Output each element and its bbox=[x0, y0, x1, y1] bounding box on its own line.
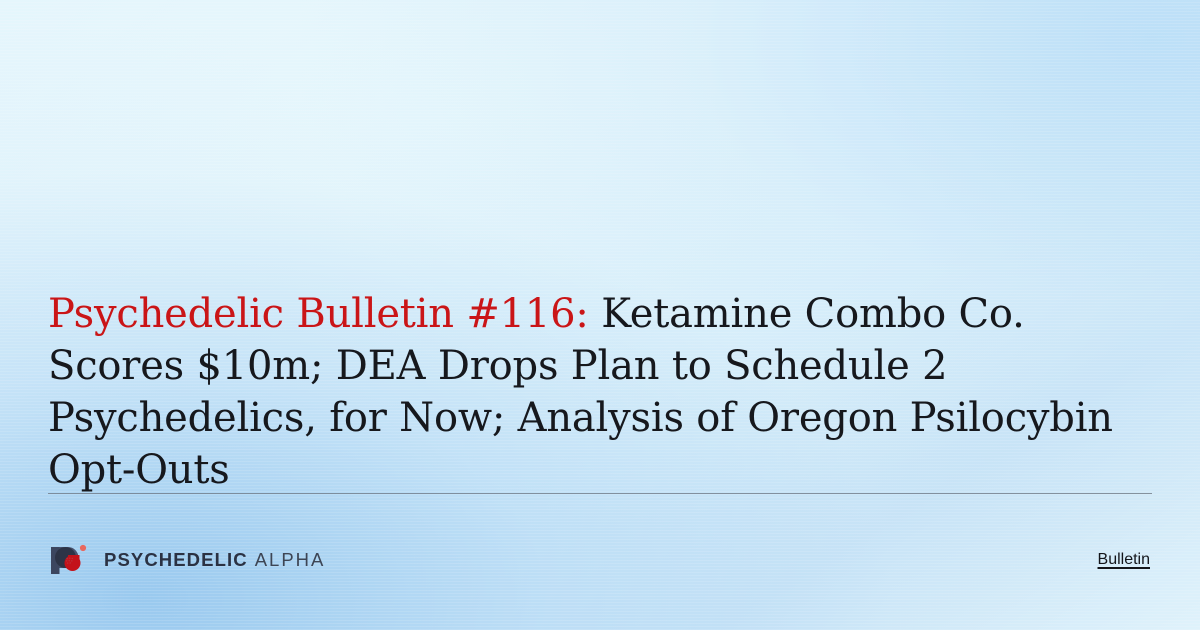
brand-word-alpha: ALPHA bbox=[255, 549, 326, 571]
footer-divider bbox=[48, 493, 1152, 494]
category-link-bulletin[interactable]: Bulletin bbox=[1098, 551, 1152, 569]
brand-wordmark: PSYCHEDELIC ALPHA bbox=[104, 549, 325, 571]
page-title: Psychedelic Bulletin #116: Ketamine Comb… bbox=[48, 288, 1128, 496]
brand-word-psychedelic: PSYCHEDELIC bbox=[104, 549, 248, 571]
psychedelic-alpha-logo-icon bbox=[48, 539, 90, 581]
brand-lockup[interactable]: PSYCHEDELIC ALPHA bbox=[48, 539, 325, 581]
card-content: Psychedelic Bulletin #116: Ketamine Comb… bbox=[48, 0, 1152, 630]
card-footer: PSYCHEDELIC ALPHA Bulletin bbox=[48, 534, 1152, 586]
page-title-block: Psychedelic Bulletin #116: Ketamine Comb… bbox=[48, 288, 1128, 496]
social-card: Psychedelic Bulletin #116: Ketamine Comb… bbox=[0, 0, 1200, 630]
page-title-prefix: Psychedelic Bulletin #116: bbox=[48, 291, 589, 337]
